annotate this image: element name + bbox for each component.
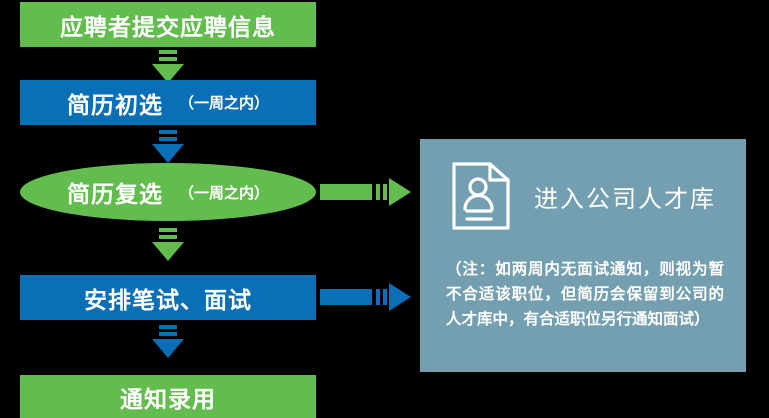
talent-pool-header: 进入公司人才库 [420,153,746,239]
talent-pool-note: （注：如两周内无面试通知，则视为暂不合适该职位，但简历会保留到公司的人才库中，有… [446,257,724,332]
arrow-head-icon [389,178,411,206]
down-arrow-exam-to-offer [152,325,184,358]
arrow-stripe [159,332,177,336]
flow-node-written-test-and-interview[interactable]: 安排笔试、面试 [20,275,316,320]
down-arrow-screening2-to-exam [152,228,184,261]
arrow-head-icon [152,242,184,261]
arrow-stripe [159,57,177,61]
down-arrow-screening1-to-screening2 [152,130,184,163]
flow-node-screening2-duration: （一周之内） [179,182,269,203]
resume-person-icon [450,159,512,233]
talent-pool-title: 进入公司人才库 [534,179,716,214]
flow-node-apply[interactable]: 应聘者提交应聘信息 [20,2,316,47]
flow-node-screening1-duration: （一周之内） [179,92,269,113]
arrow-head-icon [389,283,411,311]
arrow-shaft [320,289,372,305]
flow-node-apply-label: 应聘者提交应聘信息 [60,8,276,42]
flow-node-resume-screening-second[interactable]: 简历复选 （一周之内） [20,163,316,221]
arrow-stripe [383,184,387,200]
flow-node-screening2-label: 简历复选 [67,175,163,209]
arrow-stripe [159,50,177,54]
arrow-stripe [376,289,380,305]
arrow-stripe [159,235,177,239]
arrow-stripe [159,228,177,232]
down-arrow-apply-to-screening1 [152,50,184,83]
flow-node-offer-notification[interactable]: 通知录用 [20,375,316,418]
flow-node-offer-label: 通知录用 [120,380,216,414]
arrow-stripe [159,130,177,134]
talent-pool-panel: 进入公司人才库 （注：如两周内无面试通知，则视为暂不合适该职位，但简历会保留到公… [420,139,746,372]
arrow-stripe [159,325,177,329]
flow-node-resume-screening-first[interactable]: 简历初选 （一周之内） [20,80,316,125]
arrow-head-icon [152,339,184,358]
arrow-stripe [376,184,380,200]
arrow-stripe [383,289,387,305]
arrow-head-icon [152,144,184,163]
flowchart-canvas: 应聘者提交应聘信息 简历初选 （一周之内） 简历复选 （一周之内） 安排笔试、面… [0,0,769,418]
arrow-shaft [320,184,372,200]
flow-node-screening1-label: 简历初选 [67,86,163,120]
flow-node-exam-label: 安排笔试、面试 [84,281,252,315]
arrow-stripe [159,137,177,141]
